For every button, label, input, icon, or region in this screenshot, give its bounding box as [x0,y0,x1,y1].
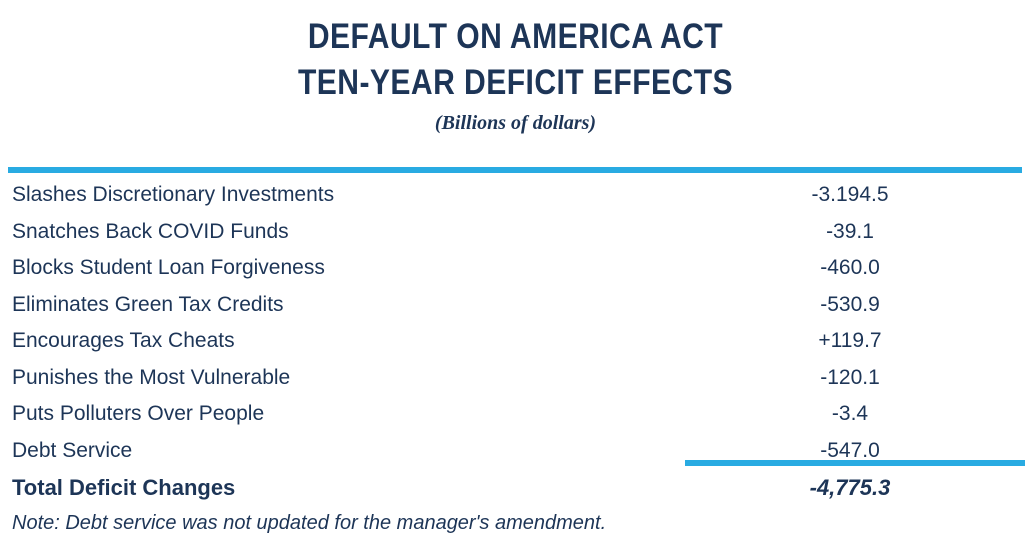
total-label: Total Deficit Changes [12,475,235,501]
deficit-effects-table: Slashes Discretionary Investments -3.194… [0,177,1031,469]
total-row: Total Deficit Changes -4,775.3 [0,472,1031,506]
page-title-line-1: DEFAULT ON AMERICA ACT [72,14,959,60]
total-divider-rule [685,460,1025,466]
row-value: -3.4 [700,402,1000,426]
row-value: +119.7 [700,329,1000,353]
row-label: Punishes the Most Vulnerable [12,366,290,390]
row-value: -530.9 [700,293,1000,317]
title-block: DEFAULT ON AMERICA ACT TEN-YEAR DEFICIT … [0,14,1031,136]
row-value: -120.1 [700,366,1000,390]
row-value: -39.1 [700,220,1000,244]
table-row: Snatches Back COVID Funds -39.1 [0,214,1031,251]
row-label: Blocks Student Loan Forgiveness [12,256,325,280]
row-value: -3.194.5 [700,183,1000,207]
table-row: Punishes the Most Vulnerable -120.1 [0,360,1031,397]
row-label: Puts Polluters Over People [12,402,264,426]
table-row: Blocks Student Loan Forgiveness -460.0 [0,250,1031,287]
row-label: Encourages Tax Cheats [12,329,235,353]
header-divider-rule [8,167,1022,173]
row-label: Snatches Back COVID Funds [12,220,289,244]
table-row: Eliminates Green Tax Credits -530.9 [0,287,1031,324]
footnote: Note: Debt service was not updated for t… [12,512,606,535]
table-row: Slashes Discretionary Investments -3.194… [0,177,1031,214]
row-label: Debt Service [12,439,132,463]
row-label: Slashes Discretionary Investments [12,183,334,207]
table-row: Puts Polluters Over People -3.4 [0,396,1031,433]
total-value: -4,775.3 [700,475,1000,501]
row-label: Eliminates Green Tax Credits [12,293,284,317]
deficit-effects-infographic: DEFAULT ON AMERICA ACT TEN-YEAR DEFICIT … [0,0,1031,551]
page-subtitle: (Billions of dollars) [0,110,1031,136]
row-value: -460.0 [700,256,1000,280]
page-title-line-2: TEN-YEAR DEFICIT EFFECTS [72,60,959,106]
table-row: Encourages Tax Cheats +119.7 [0,323,1031,360]
